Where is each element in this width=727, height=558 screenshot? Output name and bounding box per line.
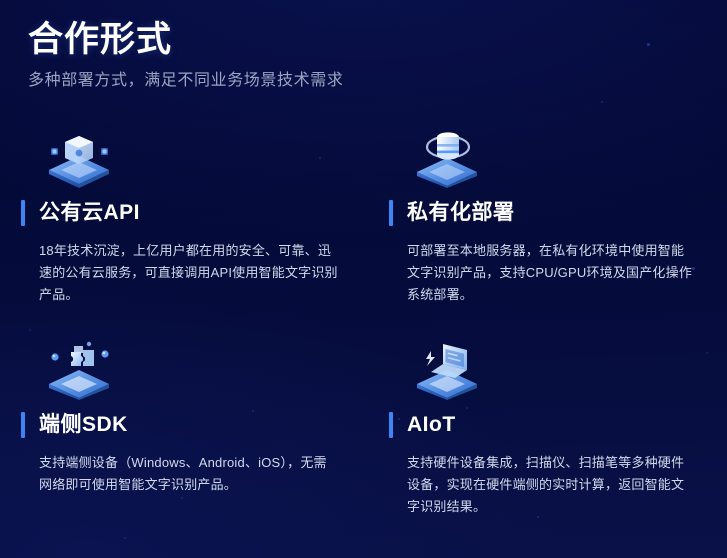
card-aiot[interactable]: AIoT 支持硬件设备集成，扫描仪、扫描笔等多种硬件设备，实现在硬件端侧的实时计… [368,340,720,552]
card-heading: AIoT [389,410,696,440]
section-header: 合作形式 多种部署方式，满足不同业务场景技术需求 [28,18,668,93]
card-title: 端侧SDK [39,412,128,438]
card-heading: 端侧SDK [21,410,344,440]
accent-bar [389,200,393,226]
cooperation-section: 合作形式 多种部署方式，满足不同业务场景技术需求 [0,0,727,558]
card-description: 支持端侧设备（Windows、Android、iOS），无需网络即可使用智能文字… [39,452,339,496]
card-description: 支持硬件设备集成，扫描仪、扫描笔等多种硬件设备，实现在硬件端侧的实时计算，返回智… [407,452,696,518]
card-title: 公有云API [39,200,140,226]
card-heading: 私有化部署 [389,198,696,228]
cloud-api-icon [41,128,119,188]
accent-bar [21,200,25,226]
card-private-deployment[interactable]: 私有化部署 可部署至本地服务器，在私有化环境中使用智能文字识别产品，支持CPU/… [368,128,720,340]
page-subtitle: 多种部署方式，满足不同业务场景技术需求 [28,69,668,93]
card-description: 可部署至本地服务器，在私有化环境中使用智能文字识别产品，支持CPU/GPU环境及… [407,240,696,306]
cards-grid: 公有云API 18年技术沉淀，上亿用户都在用的安全、可靠、迅速的公有云服务，可直… [0,128,727,552]
accent-bar [389,412,393,438]
card-description: 18年技术沉淀，上亿用户都在用的安全、可靠、迅速的公有云服务，可直接调用API使… [39,240,339,306]
card-device-sdk[interactable]: 端侧SDK 支持端侧设备（Windows、Android、iOS），无需网络即可… [0,340,368,552]
card-heading: 公有云API [21,198,344,228]
aiot-device-icon [409,340,487,400]
sdk-chip-icon [41,340,119,400]
page-title: 合作形式 [28,18,668,62]
card-title: 私有化部署 [407,200,515,226]
card-public-cloud-api[interactable]: 公有云API 18年技术沉淀，上亿用户都在用的安全、可靠、迅速的公有云服务，可直… [0,128,368,340]
card-title: AIoT [407,412,456,438]
accent-bar [21,412,25,438]
private-server-icon [409,128,487,188]
